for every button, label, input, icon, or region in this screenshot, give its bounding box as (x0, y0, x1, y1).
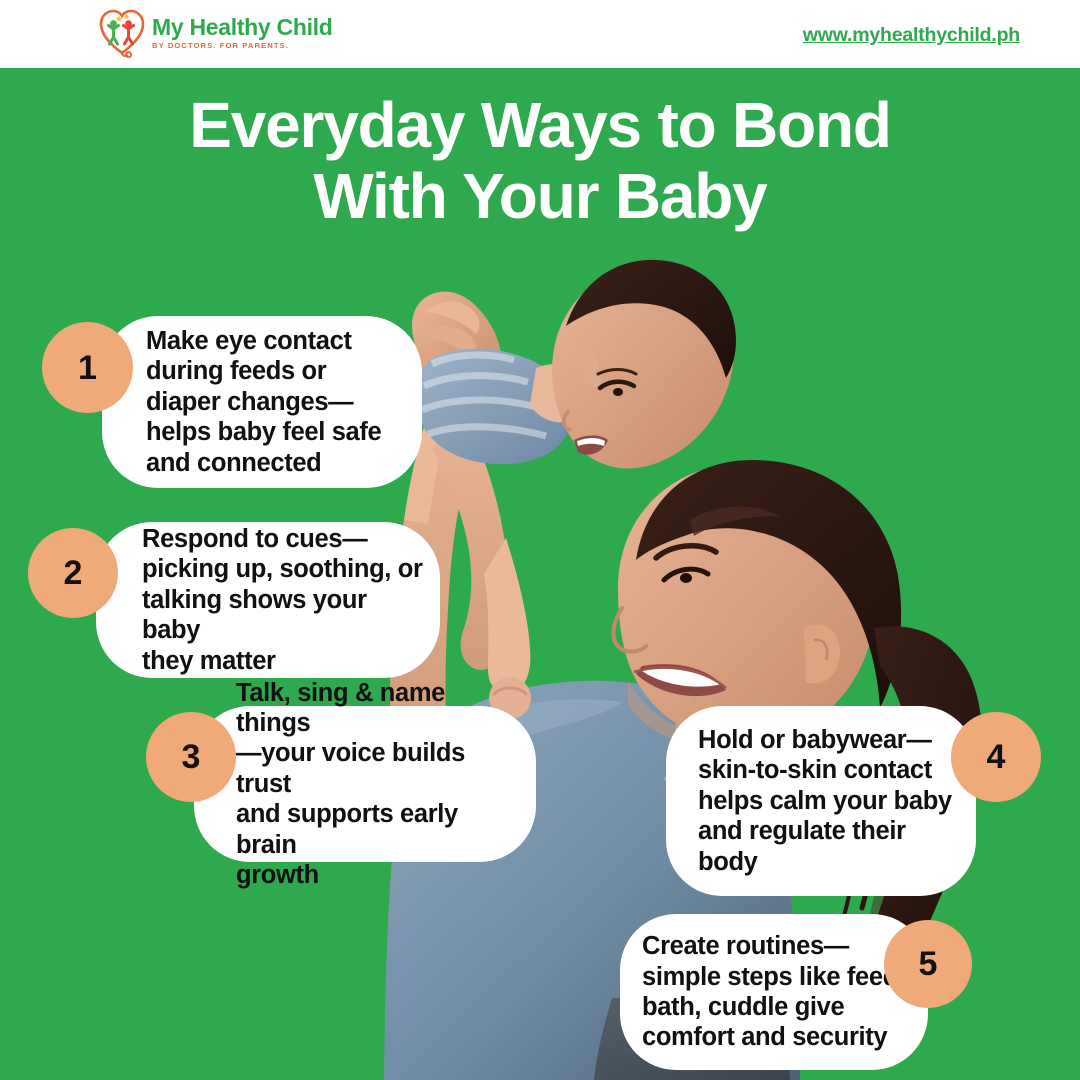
heart-stethoscope-children-icon (98, 6, 146, 58)
header-bar: My Healthy Child BY DOCTORS. FOR PARENTS… (0, 0, 1080, 68)
page-title-line-1: Everyday Ways to Bond (189, 89, 891, 161)
brand-logo[interactable]: My Healthy Child BY DOCTORS. FOR PARENTS… (98, 6, 333, 58)
logo-tagline: BY DOCTORS. FOR PARENTS. (152, 42, 289, 50)
tip-card-4: 4 Hold or babywear— skin-to-skin contact… (666, 706, 1041, 896)
tip-bubble-1: Make eye contact during feeds or diaper … (102, 316, 422, 488)
tip-card-3: 3 Talk, sing & name things —your voice b… (146, 706, 536, 862)
tip-text-4: Hold or babywear— skin-to-skin contact h… (698, 725, 952, 877)
tip-bubble-3: Talk, sing & name things —your voice bui… (194, 706, 536, 862)
tip-text-1: Make eye contact during feeds or diaper … (146, 326, 381, 478)
tip-bubble-4: Hold or babywear— skin-to-skin contact h… (666, 706, 976, 896)
page-title: Everyday Ways to Bond With Your Baby (0, 90, 1080, 232)
tip-number-badge-3: 3 (146, 712, 236, 802)
tip-number-badge-5: 5 (884, 920, 972, 1008)
page-title-line-2: With Your Baby (0, 161, 1080, 232)
tip-bubble-5: Create routines— simple steps like feed,… (620, 914, 928, 1070)
tip-number-badge-2: 2 (28, 528, 118, 618)
logo-title: My Healthy Child (152, 15, 333, 39)
infographic-canvas: Everyday Ways to Bond With Your Baby 1 M… (0, 68, 1080, 1080)
tip-card-2: 2 Respond to cues— picking up, soothing,… (28, 522, 440, 678)
tip-text-3: Talk, sing & name things —your voice bui… (236, 678, 524, 890)
tip-card-5: 5 Create routines— simple steps like fee… (620, 914, 972, 1070)
tip-number-badge-4: 4 (951, 712, 1041, 802)
tip-card-1: 1 Make eye contact during feeds or diape… (42, 316, 422, 488)
tip-text-2: Respond to cues— picking up, soothing, o… (142, 524, 428, 676)
site-url-link[interactable]: www.myhealthychild.ph (803, 24, 1020, 47)
logo-wordmark: My Healthy Child BY DOCTORS. FOR PARENTS… (152, 15, 333, 50)
tip-text-5: Create routines— simple steps like feed,… (642, 931, 905, 1052)
tip-number-badge-1: 1 (42, 322, 133, 413)
tip-bubble-2: Respond to cues— picking up, soothing, o… (96, 522, 440, 678)
